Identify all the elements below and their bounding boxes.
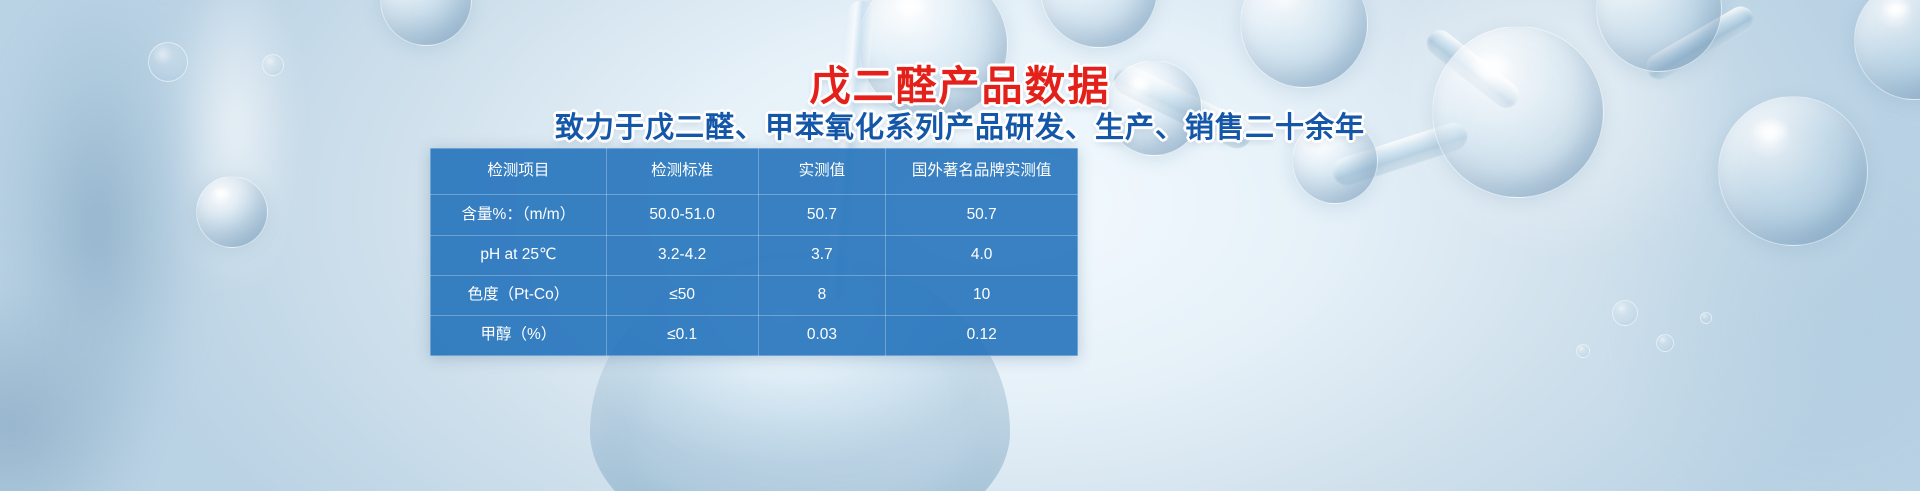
table-row: 色度（Pt-Co） ≤50 8 10 [431,276,1078,316]
table-row: pH at 25℃ 3.2-4.2 3.7 4.0 [431,236,1078,276]
bubble-decoration [1700,312,1712,324]
table-body: 含量%：（m/m） 50.0-51.0 50.7 50.7 pH at 25℃ … [431,195,1078,356]
cell-item: 含量%：（m/m） [431,195,607,236]
column-header-item: 检测项目 [431,149,607,195]
cell-measured: 0.03 [758,316,886,356]
product-spec-table: 检测项目 检测标准 实测值 国外著名品牌实测值 含量%：（m/m） 50.0-5… [430,148,1078,356]
column-header-measured: 实测值 [758,149,886,195]
cell-measured: 3.7 [758,236,886,276]
table-header: 检测项目 检测标准 实测值 国外著名品牌实测值 [431,149,1078,195]
cell-foreign-brand: 50.7 [886,195,1078,236]
cell-standard: 50.0-51.0 [606,195,758,236]
column-header-standard: 检测标准 [606,149,758,195]
table-row: 含量%：（m/m） 50.0-51.0 50.7 50.7 [431,195,1078,236]
bubble-decoration [1612,300,1638,326]
cell-standard: ≤0.1 [606,316,758,356]
bubble-decoration [1656,334,1674,352]
page-title: 戊二醛产品数据 [0,52,1920,112]
cell-item: pH at 25℃ [431,236,607,276]
cell-foreign-brand: 4.0 [886,236,1078,276]
table-header-row: 检测项目 检测标准 实测值 国外著名品牌实测值 [431,149,1078,195]
table-row: 甲醇（%） ≤0.1 0.03 0.12 [431,316,1078,356]
column-header-foreign-brand: 国外著名品牌实测值 [886,149,1078,195]
cell-measured: 8 [758,276,886,316]
cell-standard: ≤50 [606,276,758,316]
cell-item: 甲醇（%） [431,316,607,356]
bubble-decoration [1576,344,1590,358]
cell-standard: 3.2-4.2 [606,236,758,276]
cell-foreign-brand: 10 [886,276,1078,316]
cell-item: 色度（Pt-Co） [431,276,607,316]
page-subtitle: 致力于戊二醛、甲苯氧化系列产品研发、生产、销售二十余年 [0,104,1920,146]
molecule-sphere [196,176,268,248]
cell-measured: 50.7 [758,195,886,236]
cell-foreign-brand: 0.12 [886,316,1078,356]
product-data-banner: 戊二醛产品数据 致力于戊二醛、甲苯氧化系列产品研发、生产、销售二十余年 检测项目… [0,0,1920,491]
